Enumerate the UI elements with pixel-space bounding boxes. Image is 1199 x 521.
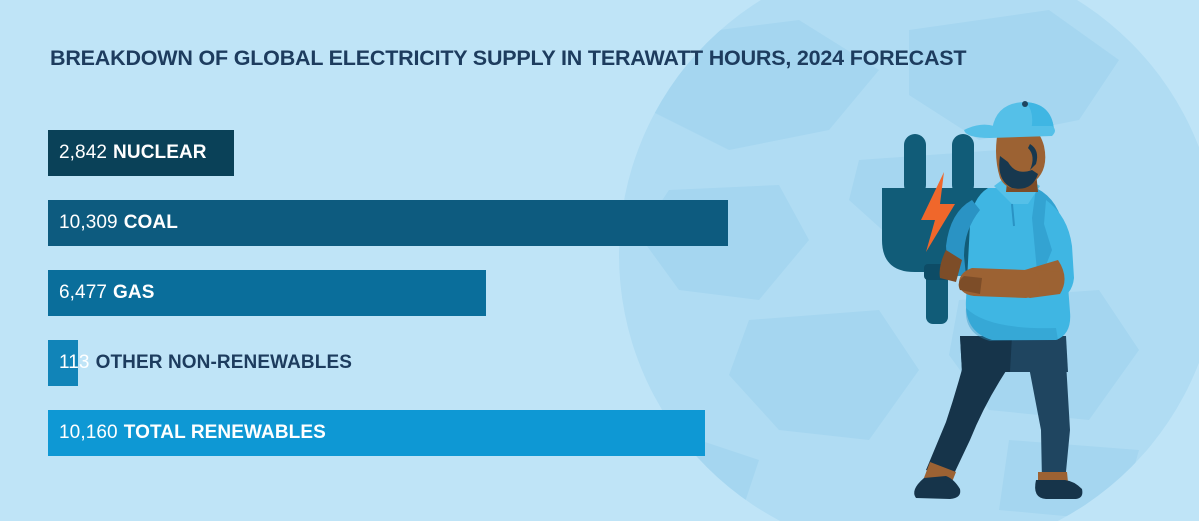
- bar-value-other-non-renewables: 113: [59, 352, 90, 374]
- bar-value-total-renewables: 10,160: [59, 422, 118, 444]
- bar-label-other-non-renewables: 113 OTHER NON-RENEWABLES: [59, 340, 352, 386]
- bar-label-nuclear: 2,842 NUCLEAR: [59, 130, 207, 176]
- bar-name-other-non-renewables: OTHER NON-RENEWABLES: [96, 352, 352, 374]
- bar-row-other-non-renewables: 113 OTHER NON-RENEWABLES: [48, 340, 808, 386]
- front-leg: [914, 362, 1012, 499]
- bar-value-nuclear: 2,842: [59, 142, 107, 164]
- bar-label-gas: 6,477 GAS: [59, 270, 155, 316]
- bar-name-gas: GAS: [113, 282, 154, 304]
- plug-prong-left: [904, 134, 926, 196]
- bar-label-coal: 10,309 COAL: [59, 200, 178, 246]
- bar-name-coal: COAL: [124, 212, 178, 234]
- bar-label-total-renewables: 10,160 TOTAL RENEWABLES: [59, 410, 326, 456]
- infographic-canvas: BREAKDOWN OF GLOBAL ELECTRICITY SUPPLY I…: [0, 0, 1199, 521]
- electrician-illustration: [860, 100, 1130, 500]
- bar-chart: 2,842 NUCLEAR 10,309 COAL 6,477 GAS 113 …: [48, 130, 808, 480]
- back-leg: [1028, 362, 1082, 499]
- cap-brim: [964, 125, 1055, 138]
- bar-name-total-renewables: TOTAL RENEWABLES: [124, 422, 326, 444]
- page-title: BREAKDOWN OF GLOBAL ELECTRICITY SUPPLY I…: [50, 46, 966, 71]
- bar-row-coal: 10,309 COAL: [48, 200, 808, 246]
- head: [964, 101, 1055, 192]
- bar-row-nuclear: 2,842 NUCLEAR: [48, 130, 808, 176]
- bar-value-coal: 10,309: [59, 212, 118, 234]
- bar-row-total-renewables: 10,160 TOTAL RENEWABLES: [48, 410, 808, 456]
- bar-row-gas: 6,477 GAS: [48, 270, 808, 316]
- bar-value-gas: 6,477: [59, 282, 107, 304]
- bar-name-nuclear: NUCLEAR: [113, 142, 207, 164]
- plug-prong-right: [952, 134, 974, 196]
